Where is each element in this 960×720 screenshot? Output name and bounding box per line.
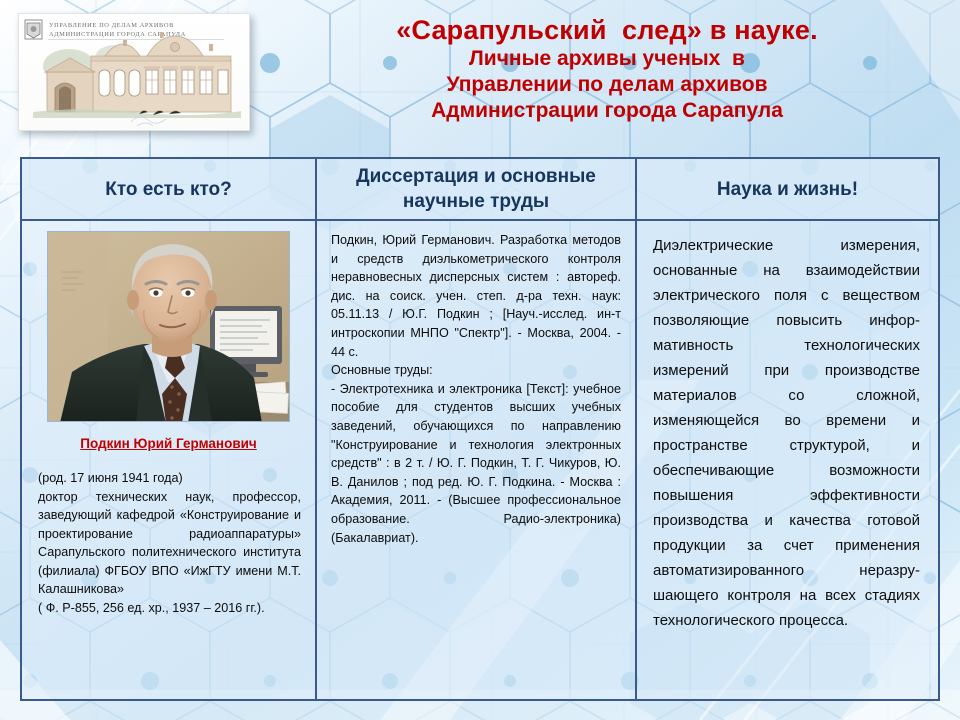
svg-text:УПРАВЛЕНИЕ ПО ДЕЛАМ АРХИВОВ: УПРАВЛЕНИЕ ПО ДЕЛАМ АРХИВОВ xyxy=(49,22,174,29)
dissertation-text: Подкин, Юрий Германович. Разработка мето… xyxy=(327,229,625,547)
person-bio-text: доктор технических наук, профессор, заве… xyxy=(38,488,301,599)
archive-logo-image: УПРАВЛЕНИЕ ПО ДЕЛАМ АРХИВОВ АДМИНИСТРАЦИ… xyxy=(18,13,250,131)
subtitle-line-3: Администрации города Сарапула xyxy=(262,98,952,124)
person-name: Подкин Юрий Германович xyxy=(32,435,305,453)
table-header-who-is-who: Кто есть кто? xyxy=(22,159,315,219)
table-header-science-and-life: Наука и жизнь! xyxy=(635,159,938,219)
table-header-line-1: Диссертация и основные xyxy=(356,166,596,187)
main-work-item: - Электротехника и электроника [Текст]: … xyxy=(331,380,621,547)
person-birth: (род. 17 июня 1941 года) xyxy=(38,469,301,488)
table-header-line-2: научные труды xyxy=(403,191,549,212)
person-fond-reference: ( Ф. Р-855, 256 ед. хр., 1937 – 2016 гг.… xyxy=(38,599,301,618)
table-header-dissertation: Диссертация и основные научные труды xyxy=(315,159,635,219)
cell-who-is-who: Подкин Юрий Германович (род. 17 июня 194… xyxy=(22,221,315,699)
cell-dissertation: Подкин, Юрий Германович. Разработка мето… xyxy=(315,221,635,699)
person-bio: (род. 17 июня 1941 года) доктор техничес… xyxy=(32,469,305,617)
table-header-label: Наука и жизнь! xyxy=(717,177,858,202)
svg-text:АДМИНИСТРАЦИИ ГОРОДА САРАПУЛА: АДМИНИСТРАЦИИ ГОРОДА САРАПУЛА xyxy=(49,31,186,38)
page-title: «Сарапульский след» в науке. xyxy=(262,14,952,46)
dissertation-main: Подкин, Юрий Германович. Разработка мето… xyxy=(331,231,621,361)
title-block: «Сарапульский след» в науке. Личные архи… xyxy=(262,14,952,124)
table-body-row: Подкин Юрий Германович (род. 17 июня 194… xyxy=(22,221,938,699)
science-life-text: Диэлектрические измерения, основанные на… xyxy=(647,229,928,633)
content-table: Кто есть кто? Диссертация и основные нау… xyxy=(20,157,940,701)
table-header-label: Диссертация и основные научные труды xyxy=(356,164,596,214)
table-header-label: Кто есть кто? xyxy=(105,177,231,202)
subtitle-line-1: Личные архивы ученых в xyxy=(262,46,952,72)
main-works-label: Основные труды: xyxy=(331,361,621,380)
cell-science-and-life: Диэлектрические измерения, основанные на… xyxy=(635,221,938,699)
person-photo xyxy=(47,231,290,422)
subtitle-line-2: Управлении по делам архивов xyxy=(262,72,952,98)
slide-header: УПРАВЛЕНИЕ ПО ДЕЛАМ АРХИВОВ АДМИНИСТРАЦИ… xyxy=(0,0,960,150)
science-life-paragraph: Диэлектрические измерения, основанные на… xyxy=(653,233,920,633)
table-header-row: Кто есть кто? Диссертация и основные нау… xyxy=(22,159,938,221)
